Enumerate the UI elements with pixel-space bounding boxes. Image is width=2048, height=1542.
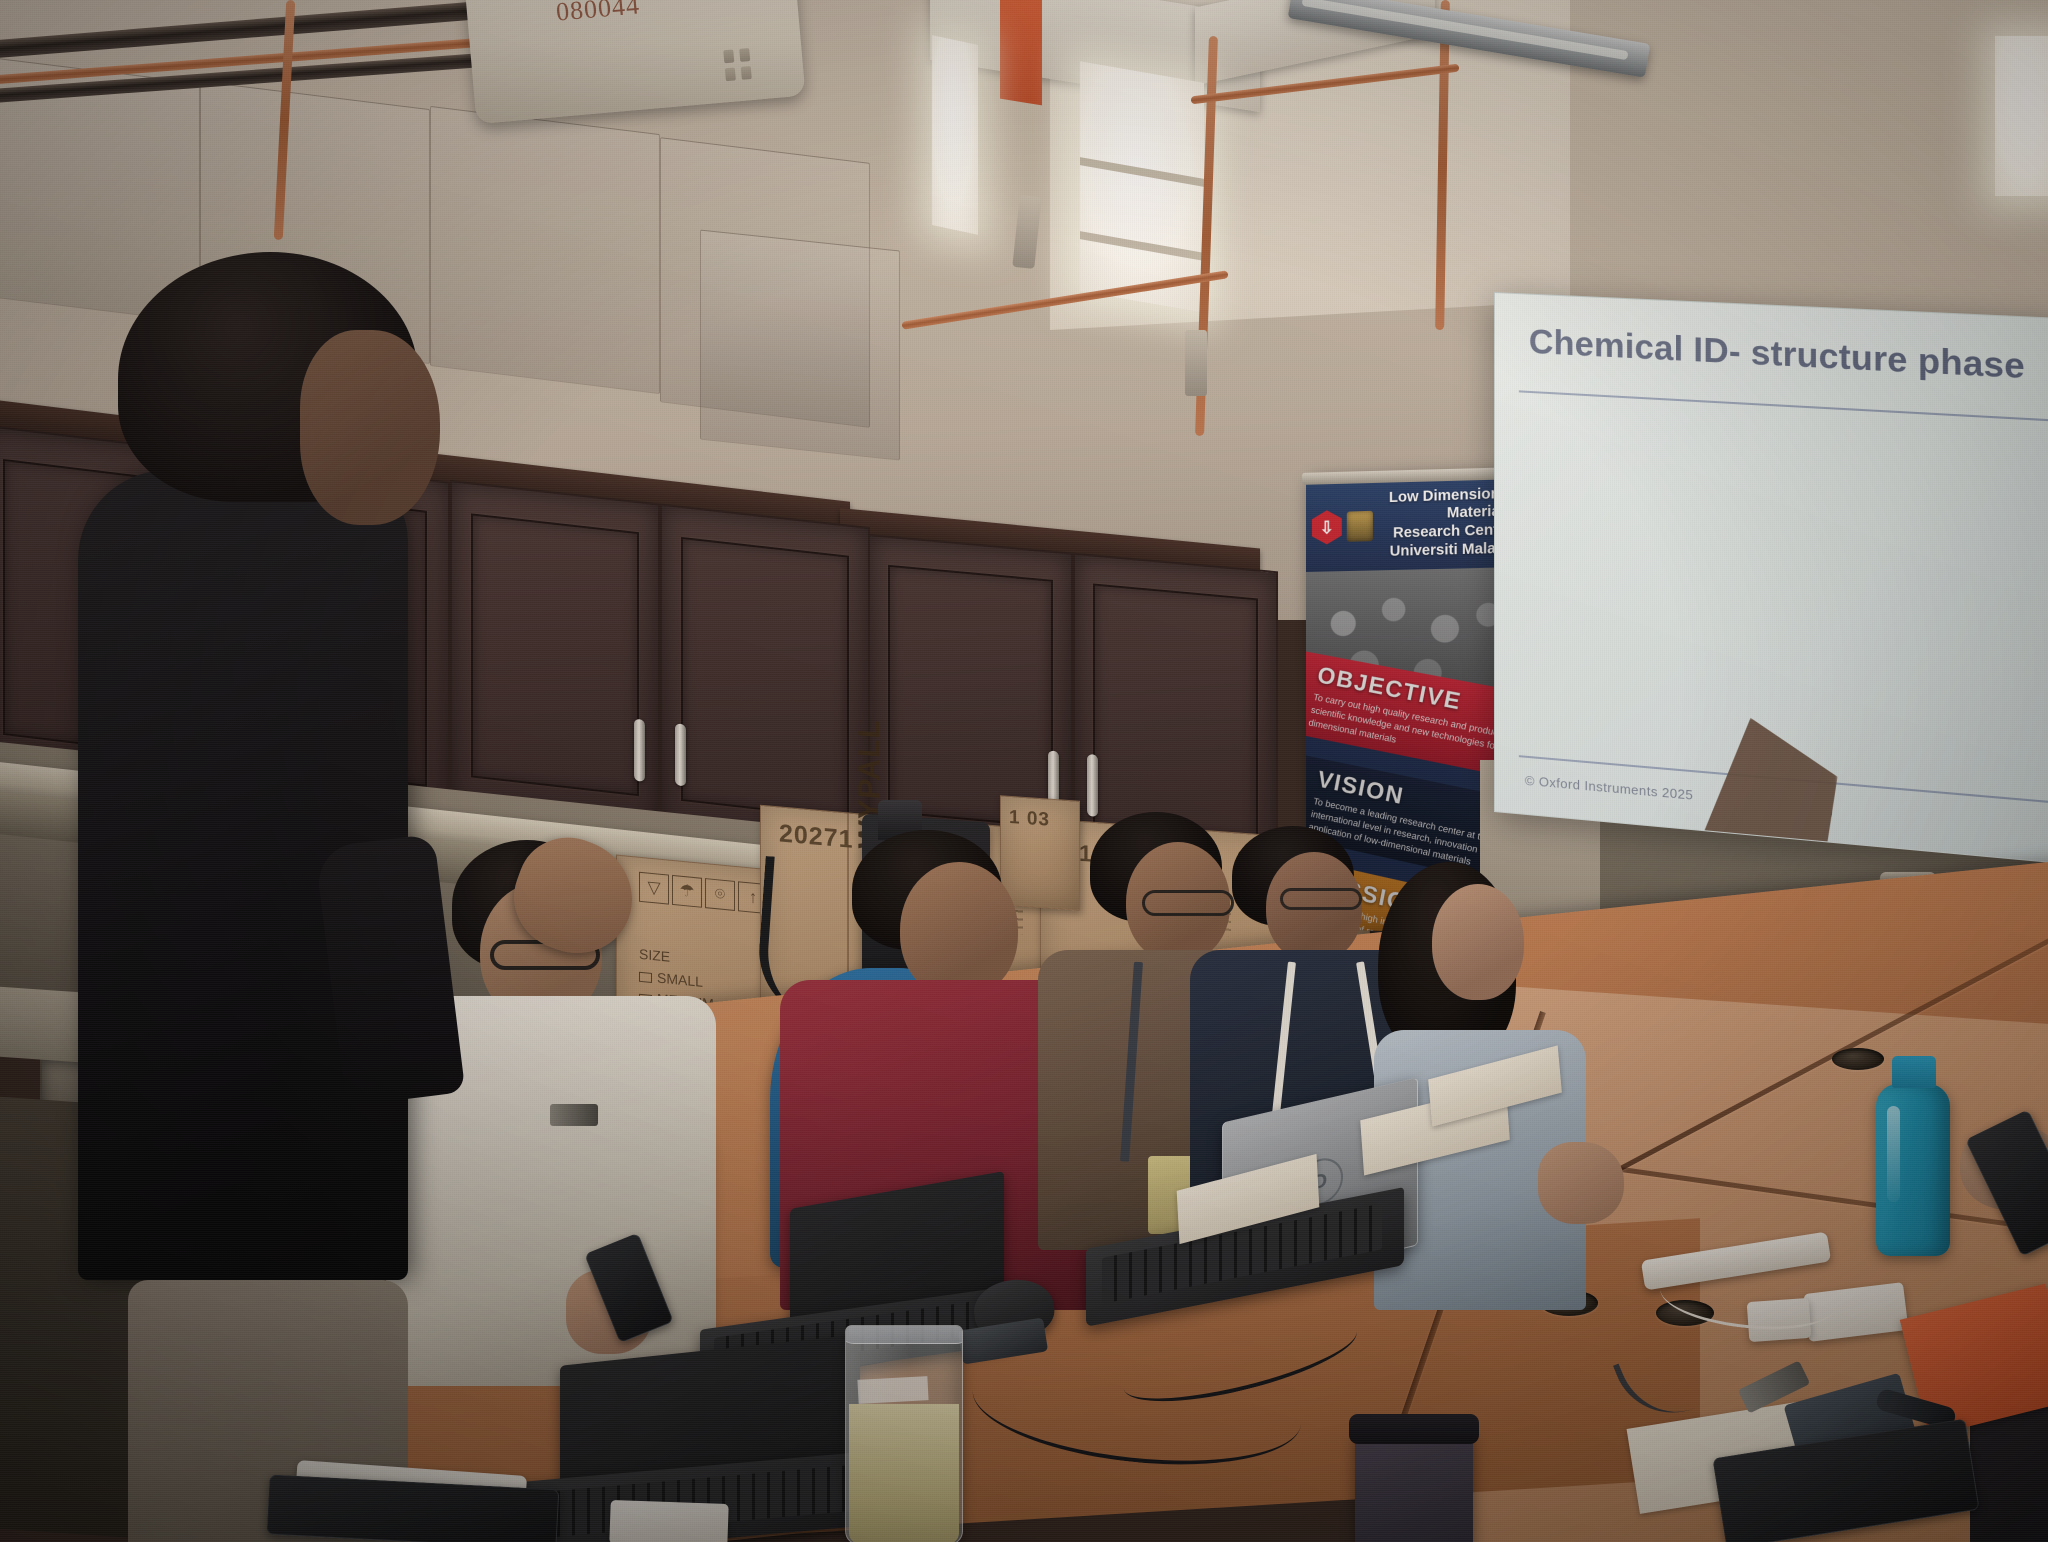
photo-scene: 080044 [0,0,2048,1542]
ac-vent [741,66,752,80]
cardboard-box: 1 03 [1000,795,1080,911]
eyeglasses-icon [1280,888,1362,910]
power-adapter[interactable] [609,1500,728,1542]
ac-vent [725,67,736,81]
slide-footer-copyright: © Oxford Instruments 2025 [1525,773,1693,803]
face [900,862,1018,998]
cabinet-handle[interactable] [634,719,645,782]
table-cable-grommet[interactable] [1832,1048,1884,1070]
slide-title: Chemical ID- structure phase [1529,323,2025,388]
cabinet-door-panel [471,513,640,796]
cabinet-handle[interactable] [1087,754,1098,817]
wall-panel [430,106,660,394]
eyeglasses-icon [1142,890,1234,916]
hand [1538,1142,1624,1224]
umbrella-icon: ☂ [672,875,702,908]
box-code: 1 03 [1009,807,1050,832]
cabinet-door-panel [1093,584,1258,847]
cabinet-door[interactable] [660,504,870,854]
glass-icon: ⌾ [705,878,735,911]
window-upper-left [1080,61,1204,313]
cabinet-door-panel [888,565,1053,828]
face [1432,884,1524,1000]
tumbler-lid[interactable] [1349,1414,1479,1444]
box-size-option: SMALL [657,969,703,989]
presenter-face [300,330,440,525]
slide-title-rule [1519,390,2048,422]
cup-liquid [849,1404,959,1542]
cup-dome-lid [845,1325,963,1344]
bottle-highlight [1887,1106,1900,1202]
orange-beam-edge [1000,0,1042,105]
shirt-logo [550,1104,598,1126]
box-handling-icons: ▽ ☂ ⌾ ↑ [639,872,768,914]
water-bottle[interactable] [1876,1084,1950,1256]
cabinet-handle[interactable] [675,723,686,786]
cup-label [857,1376,928,1404]
fragile-icon: ▽ [639,872,669,905]
travel-tumbler[interactable] [1355,1430,1473,1542]
screen-occlusion-shadow [1702,714,1837,849]
cabinet-door-panel [681,537,850,820]
wall-drain-stub [1185,330,1207,396]
ac-vent [739,48,750,62]
window-upper-right [1995,36,2048,196]
bottle-cap[interactable] [1892,1056,1936,1088]
wall-panel [700,229,900,460]
window-upper-left-small [932,35,978,235]
ac-vent [723,49,734,63]
checkbox-icon [639,972,652,983]
cabinet-door[interactable] [450,480,660,830]
projection-screen: Chemical ID- structure phase © Oxford In… [1494,292,2048,865]
plastic-cup[interactable] [845,1325,963,1542]
